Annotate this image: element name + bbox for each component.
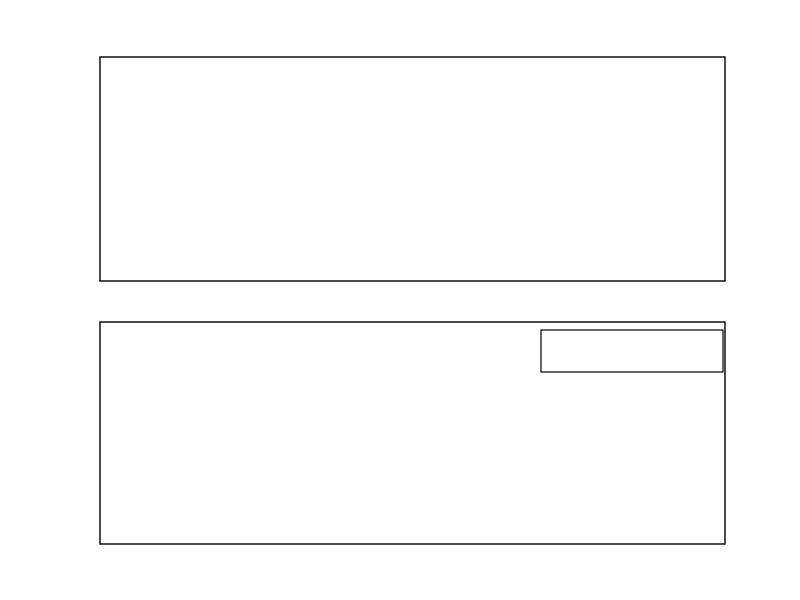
legend-frame <box>541 330 723 372</box>
figure-canvas <box>0 0 800 600</box>
top-panel <box>100 57 725 281</box>
bottom-panel <box>100 322 725 544</box>
legend[interactable] <box>541 330 723 372</box>
top-panel-frame <box>100 57 725 281</box>
matplotlib-figure <box>0 0 800 600</box>
